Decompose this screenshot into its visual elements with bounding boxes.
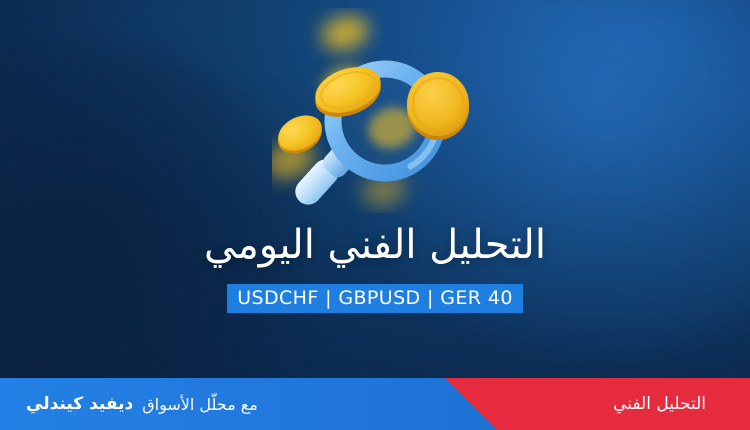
footer-category-label: التحليل الفني [613, 378, 706, 430]
banner-stage: التحليل الفني اليومي USDCHF | GBPUSD | G… [0, 0, 750, 430]
footer-analyst-name: ديفيد كيندلي [26, 394, 133, 414]
footer-bar: مع محلّل الأسواق ديفيد كيندلي التحليل ال… [0, 378, 750, 430]
coin-blurred-top [317, 10, 373, 56]
instruments-badge: USDCHF | GBPUSD | GER 40 [227, 284, 523, 313]
footer-credit-lead: مع محلّل الأسواق [142, 395, 258, 414]
instruments-badge-wrap: USDCHF | GBPUSD | GER 40 [0, 284, 750, 313]
page-title: التحليل الفني اليومي [0, 222, 750, 268]
coin-upright-right [407, 72, 469, 140]
footer-analyst-credit: مع محلّل الأسواق ديفيد كيندلي [26, 378, 258, 430]
magnifying-glass-with-gold-coins-icon [272, 8, 502, 213]
